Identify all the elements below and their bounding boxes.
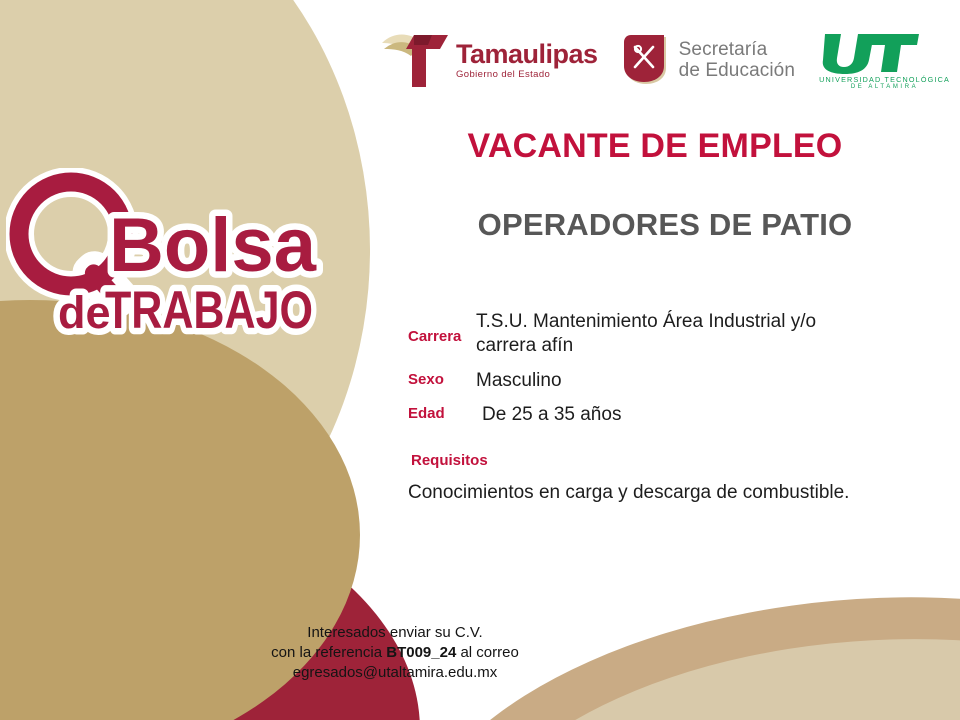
- detail-label-sexo: Sexo: [408, 369, 476, 388]
- tamaulipas-mark-icon: [380, 29, 452, 91]
- ut-logo-subtitle-2: DE ALTAMIRA: [819, 84, 950, 90]
- ut-logo-subtitle-1: UNIVERSIDAD TECNOLÓGICA: [819, 75, 950, 84]
- contact-footer: Interesados enviar su C.V. con la refere…: [245, 623, 545, 682]
- footer-reference-prefix: con la referencia: [271, 644, 386, 661]
- detail-value-carrera: T.S.U. Mantenimiento Área Industrial y/o…: [476, 310, 868, 358]
- bolsa-de-trabajo-logo-icon: Bolsa Bolsa de de TRABAJO TRABAJO: [6, 168, 356, 343]
- trabajo-word: TRABAJO: [105, 281, 313, 340]
- ut-altamira-logo: UNIVERSIDAD TECNOLÓGICA DE ALTAMIRA: [819, 30, 950, 90]
- de-word: de: [58, 287, 111, 338]
- poster-canvas: Tamaulipas Gobierno del Estado Secretarí…: [0, 0, 960, 720]
- detail-label-edad: Edad: [408, 403, 476, 422]
- footer-email[interactable]: egresados@utaltamira.edu.mx: [245, 663, 545, 683]
- detail-value-sexo: Masculino: [476, 369, 562, 393]
- footer-reference-suffix: al correo: [456, 644, 519, 661]
- tamaulipas-logo-subtitle: Gobierno del Estado: [456, 70, 598, 80]
- secretaria-shield-icon: [622, 34, 670, 86]
- ut-monogram-icon: [819, 30, 923, 74]
- job-position-title: OPERADORES DE PATIO: [400, 207, 930, 243]
- secretaria-educacion-logo: Secretaría de Educación: [622, 34, 795, 86]
- secretaria-logo-line1: Secretaría: [679, 39, 795, 60]
- detail-row-edad: Edad De 25 a 35 años: [408, 403, 868, 427]
- footer-reference-code: BT009_24: [386, 644, 456, 661]
- bolsa-word: Bolsa: [109, 203, 317, 288]
- detail-label-carrera: Carrera: [408, 310, 476, 345]
- requirements-text: Conocimientos en carga y descarga de com…: [408, 481, 854, 505]
- detail-row-sexo: Sexo Masculino: [408, 369, 868, 393]
- detail-value-edad: De 25 a 35 años: [476, 403, 621, 427]
- footer-line-2: con la referencia BT009_24 al correo: [245, 643, 545, 663]
- requirements-label: Requisitos: [411, 452, 488, 469]
- detail-row-carrera: Carrera T.S.U. Mantenimiento Área Indust…: [408, 310, 868, 358]
- tamaulipas-logo-title: Tamaulipas: [456, 41, 598, 68]
- footer-line-1: Interesados enviar su C.V.: [245, 623, 545, 643]
- crimson-sweep-shape: [0, 470, 420, 720]
- page-title-kicker: VACANTE DE EMPLEO: [400, 127, 910, 166]
- tamaulipas-logo: Tamaulipas Gobierno del Estado: [380, 29, 598, 91]
- logo-row: Tamaulipas Gobierno del Estado Secretarí…: [380, 24, 950, 96]
- bolsa-de-trabajo-badge: Bolsa Bolsa de de TRABAJO TRABAJO: [6, 168, 356, 343]
- secretaria-logo-line2: de Educación: [679, 60, 795, 81]
- job-details-list: Carrera T.S.U. Mantenimiento Área Indust…: [408, 310, 868, 438]
